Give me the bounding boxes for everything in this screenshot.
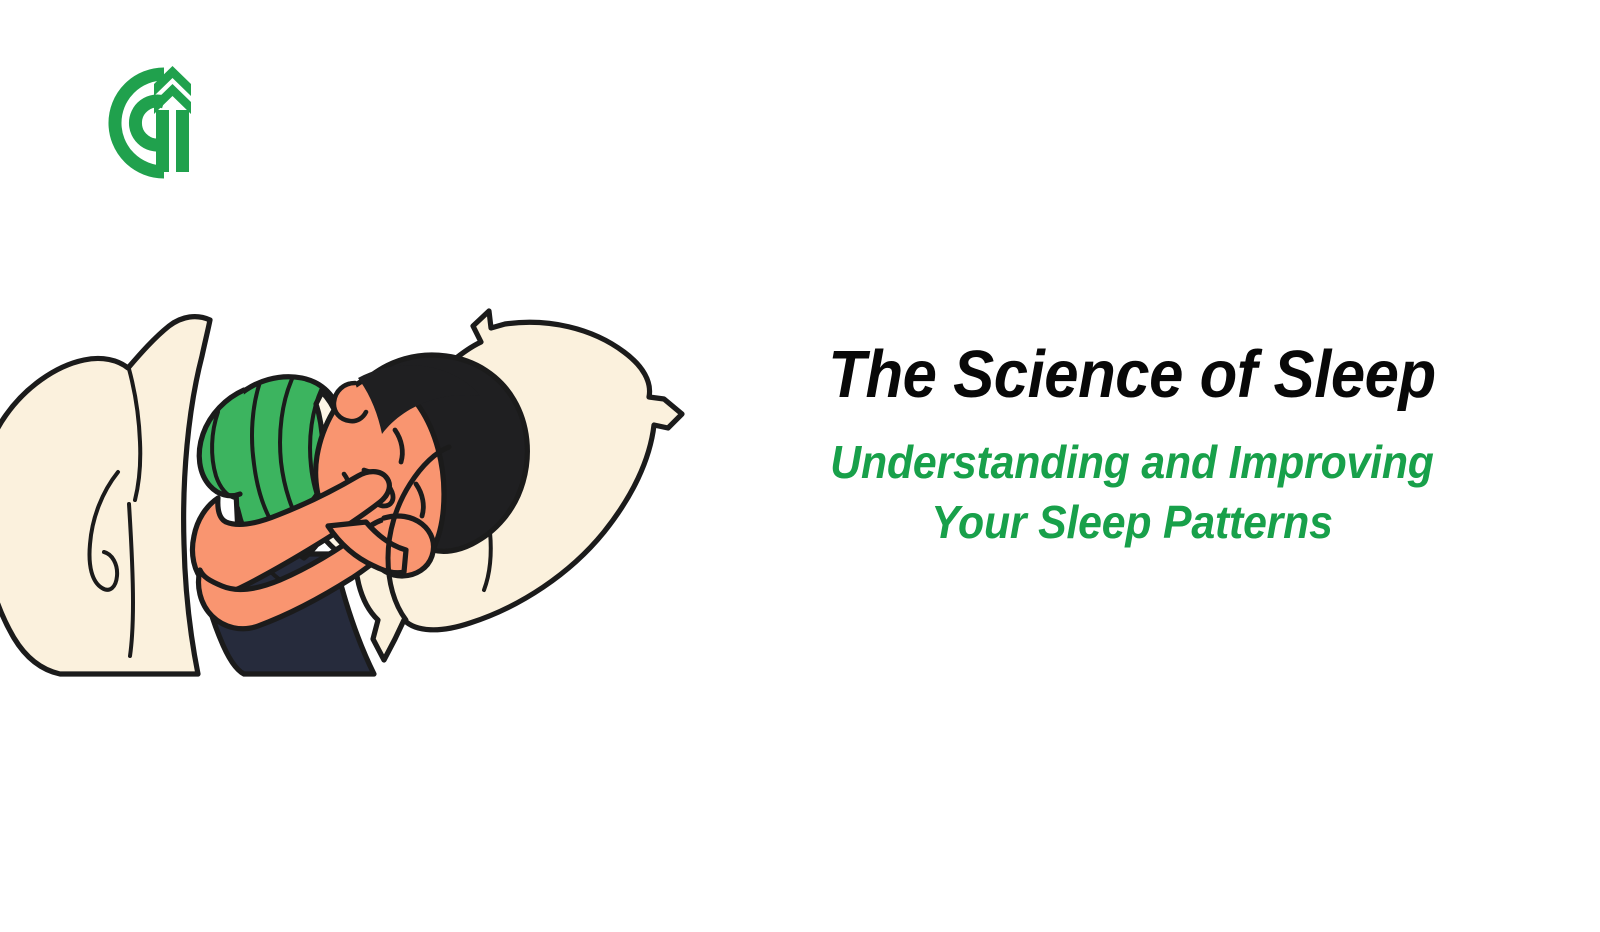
page-subtitle-line-2: Your Sleep Patterns — [779, 492, 1486, 553]
page-title: The Science of Sleep — [782, 340, 1481, 410]
brand-logo[interactable] — [72, 58, 202, 188]
page-subtitle: Understanding and Improving Your Sleep P… — [779, 432, 1486, 553]
sleeping-person-artwork — [0, 282, 692, 682]
slide-canvas: The Science of Sleep Understanding and I… — [0, 0, 1600, 932]
cci-logo-icon — [72, 58, 202, 188]
page-subtitle-line-1: Understanding and Improving — [779, 432, 1486, 493]
sleeping-person-illustration — [0, 282, 692, 682]
title-block: The Science of Sleep Understanding and I… — [752, 340, 1512, 553]
